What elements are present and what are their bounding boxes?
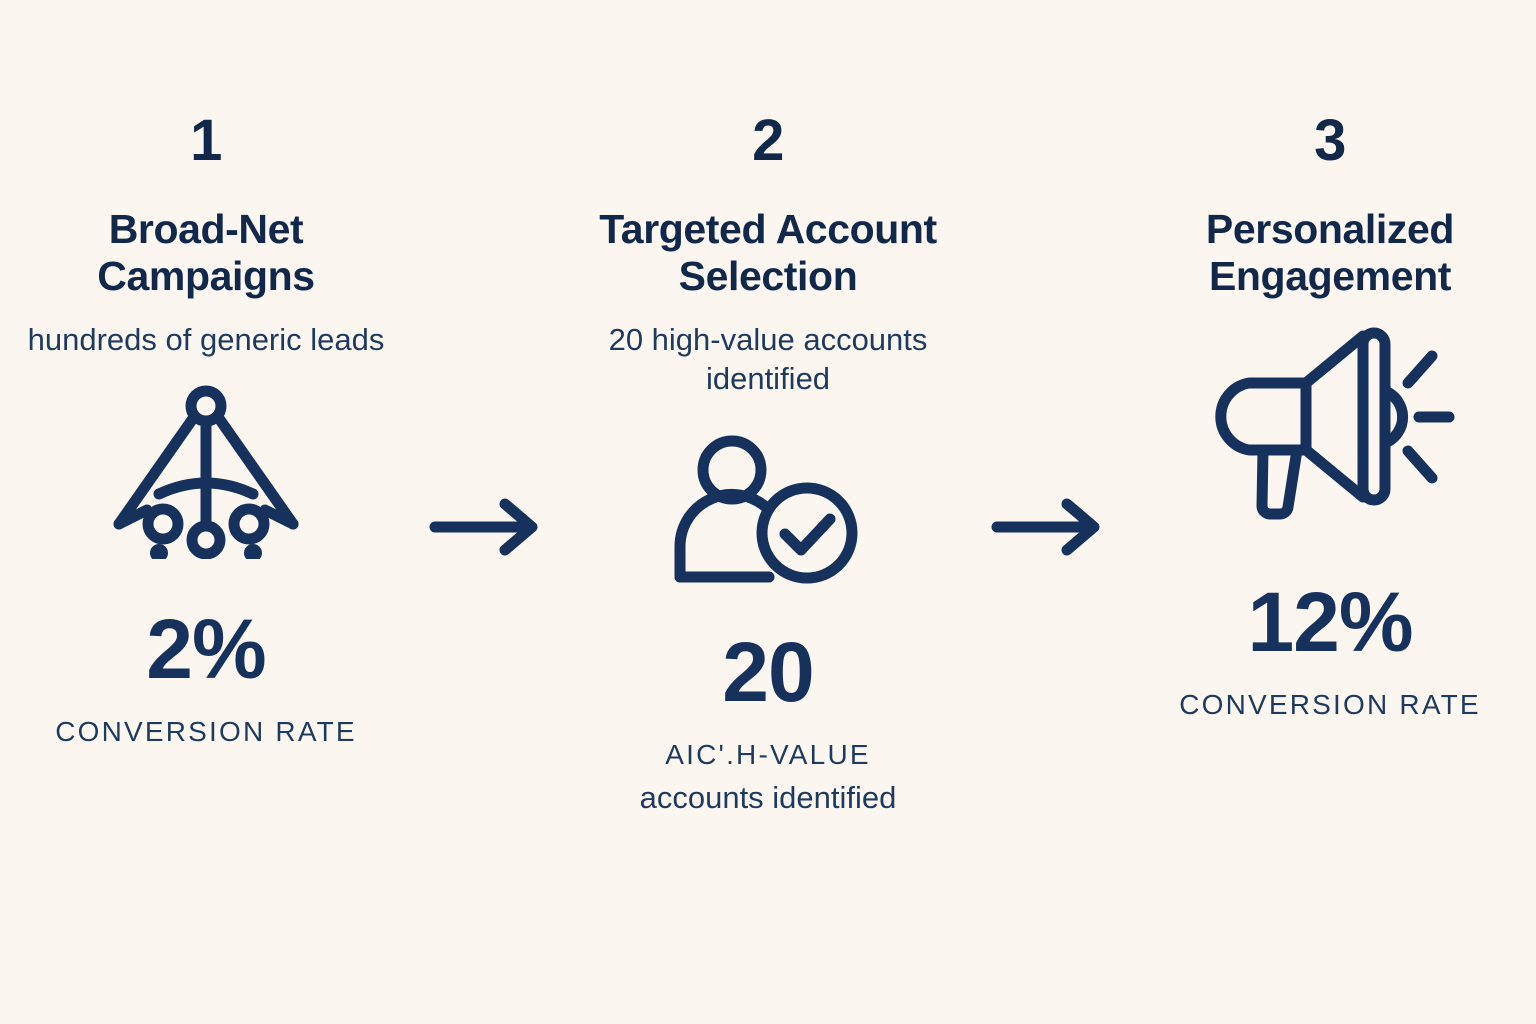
megaphone-icon-wrap [1205, 308, 1455, 548]
stat-label-sub-2: accounts identified [640, 778, 897, 818]
net-icon [101, 384, 311, 559]
stat-block-1: 2% CONVERSION RATE [55, 607, 357, 751]
stat-value-1: 2% [146, 607, 265, 691]
stat-label-2: AIC'.H-VALUE [665, 736, 871, 774]
person-check-icon-wrap [668, 426, 868, 596]
stat-block-2: 20 AIC'.H-VALUE accounts identified [640, 630, 897, 818]
arrow-cell-2 [974, 112, 1124, 557]
arrow-right-icon [427, 497, 547, 557]
step-title-1: Broad-Net Campaigns [0, 206, 412, 300]
step-number-1: 1 [190, 112, 222, 170]
net-icon-wrap [101, 381, 311, 561]
step-title-2: Targeted Account Selection [562, 206, 974, 300]
stat-label-1: CONVERSION RATE [55, 713, 357, 751]
stat-label-3: CONVERSION RATE [1179, 686, 1481, 724]
step-title-3: Personalized Engagement [1124, 206, 1536, 300]
step-column-2: 2 Targeted Account Selection 20 high-val… [562, 112, 974, 818]
step-column-3: 3 Personalized Engagement 12% CONVERSION… [1124, 112, 1536, 724]
stat-value-3: 12% [1247, 580, 1412, 664]
step-column-1: 1 Broad-Net Campaigns hundreds of generi… [0, 112, 412, 751]
infographic-stage: 1 Broad-Net Campaigns hundreds of generi… [0, 0, 1536, 1024]
person-check-icon [668, 434, 868, 589]
step-subtitle-2: 20 high-value accounts identified [568, 320, 968, 398]
arrow-cell-1 [412, 112, 562, 557]
step-number-2: 2 [752, 112, 784, 170]
megaphone-icon [1205, 321, 1455, 536]
step-number-3: 3 [1314, 112, 1346, 170]
arrow-right-icon [989, 497, 1109, 557]
stat-block-3: 12% CONVERSION RATE [1179, 580, 1481, 724]
step-subtitle-1: hundreds of generic leads [28, 320, 385, 359]
stat-value-2: 20 [722, 630, 813, 714]
